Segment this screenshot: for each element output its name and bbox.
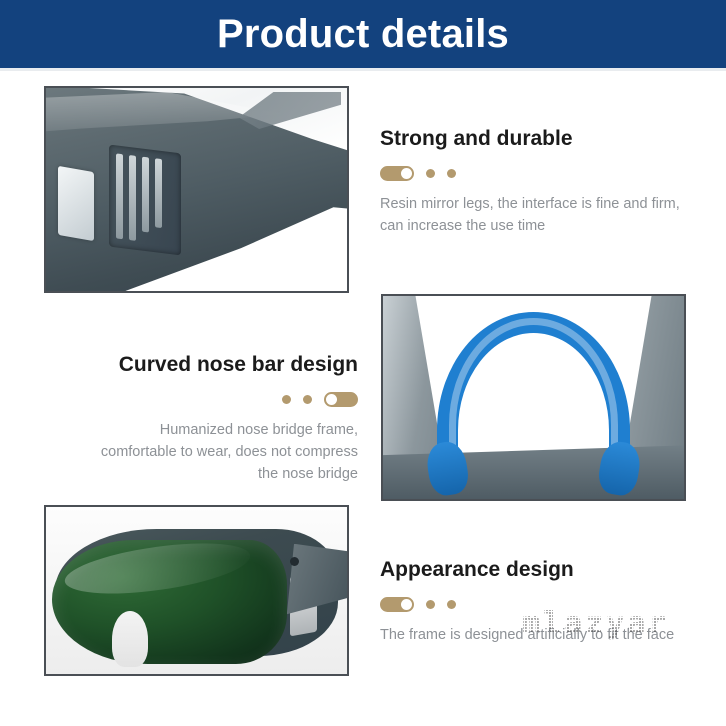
feature-heading: Curved nose bar design <box>100 352 358 377</box>
feature-description: Resin mirror legs, the interface is fine… <box>380 194 680 238</box>
feature-curved-nose-bar-design: Curved nose bar design Humanized nose br… <box>100 352 358 485</box>
step-dot <box>447 600 456 609</box>
feature-strong-and-durable: Strong and durable Resin mirror legs, th… <box>380 126 680 238</box>
feature-description: The frame is designed artificially to fi… <box>380 625 690 647</box>
step-dot <box>447 169 456 178</box>
feature-appearance-design: Appearance design The frame is designed … <box>380 557 690 647</box>
step-indicator-nose <box>100 392 358 407</box>
product-photo-goggles <box>44 505 349 676</box>
step-pill-knob <box>326 394 337 405</box>
banner-underline <box>0 68 726 71</box>
step-dot <box>426 169 435 178</box>
step-dot <box>426 600 435 609</box>
step-pill-knob <box>401 599 412 610</box>
step-pill-knob <box>401 168 412 179</box>
feature-heading: Strong and durable <box>380 126 680 151</box>
step-pill-active <box>324 392 358 407</box>
feature-description: Humanized nose bridge frame, comfortable… <box>100 420 358 485</box>
page-banner: Product details <box>0 0 726 68</box>
step-pill-active <box>380 597 414 612</box>
step-dot <box>282 395 291 404</box>
feature-heading: Appearance design <box>380 557 690 582</box>
step-pill-active <box>380 166 414 181</box>
product-photo-temple <box>44 86 349 293</box>
step-dot <box>303 395 312 404</box>
product-details-page: Product details Strong and durable Resin… <box>0 0 726 726</box>
step-indicator-appearance <box>380 597 690 612</box>
page-title: Product details <box>217 14 509 54</box>
product-photo-nose-bridge <box>381 294 686 501</box>
step-indicator-strong <box>380 166 680 181</box>
